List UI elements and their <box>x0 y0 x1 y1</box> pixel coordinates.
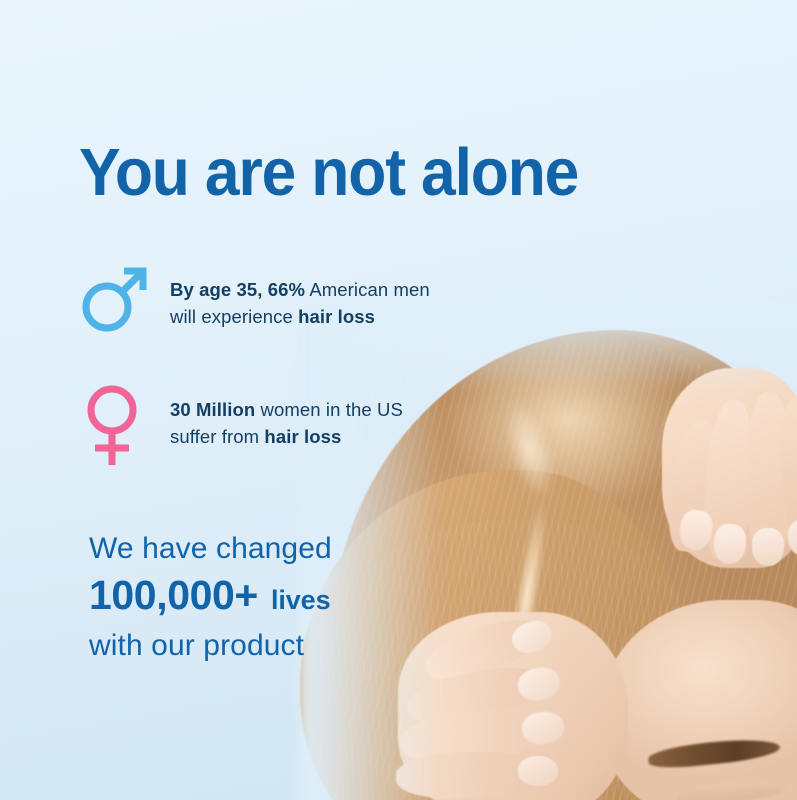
poster-canvas: You are not alone By age 35, 66% America… <box>0 0 797 800</box>
stat-text-men: By age 35, 66% American men will experie… <box>170 262 430 330</box>
stat-bold-women-2: hair loss <box>264 426 341 447</box>
lives-count: 100,000+ <box>89 570 258 620</box>
stat-line-1: 30 Million women in the US <box>170 399 403 420</box>
lives-number-row: 100,000+ lives <box>89 570 332 625</box>
stat-line-1: By age 35, 66% American men <box>170 279 430 300</box>
lives-line-3: with our product <box>89 625 332 667</box>
lives-unit: lives <box>271 575 331 625</box>
stat-rest-women-2: suffer from <box>170 426 264 447</box>
stat-row-women: 30 Million women in the US suffer from h… <box>79 382 403 473</box>
stat-rest-men-1: American men <box>305 279 430 300</box>
stat-bold-men-2: hair loss <box>298 306 375 327</box>
stat-row-men: By age 35, 66% American men will experie… <box>79 262 430 341</box>
stat-line-2: suffer from hair loss <box>170 426 341 447</box>
stat-bold-women-1: 30 Million <box>170 399 255 420</box>
stat-text-women: 30 Million women in the US suffer from h… <box>170 382 403 450</box>
stat-rest-men-2: will experience <box>170 306 298 327</box>
male-gender-symbol-icon <box>79 262 151 341</box>
stat-bold-men-1: By age 35, 66% <box>170 279 305 300</box>
stat-line-2: will experience hair loss <box>170 306 375 327</box>
stat-rest-women-1: women in the US <box>255 399 403 420</box>
page-title: You are not alone <box>79 139 578 206</box>
lives-changed-block: We have changed 100,000+ lives with our … <box>89 528 332 667</box>
lives-line-1: We have changed <box>89 528 332 570</box>
poster-content: You are not alone By age 35, 66% America… <box>0 0 797 800</box>
female-gender-symbol-icon <box>79 382 151 473</box>
